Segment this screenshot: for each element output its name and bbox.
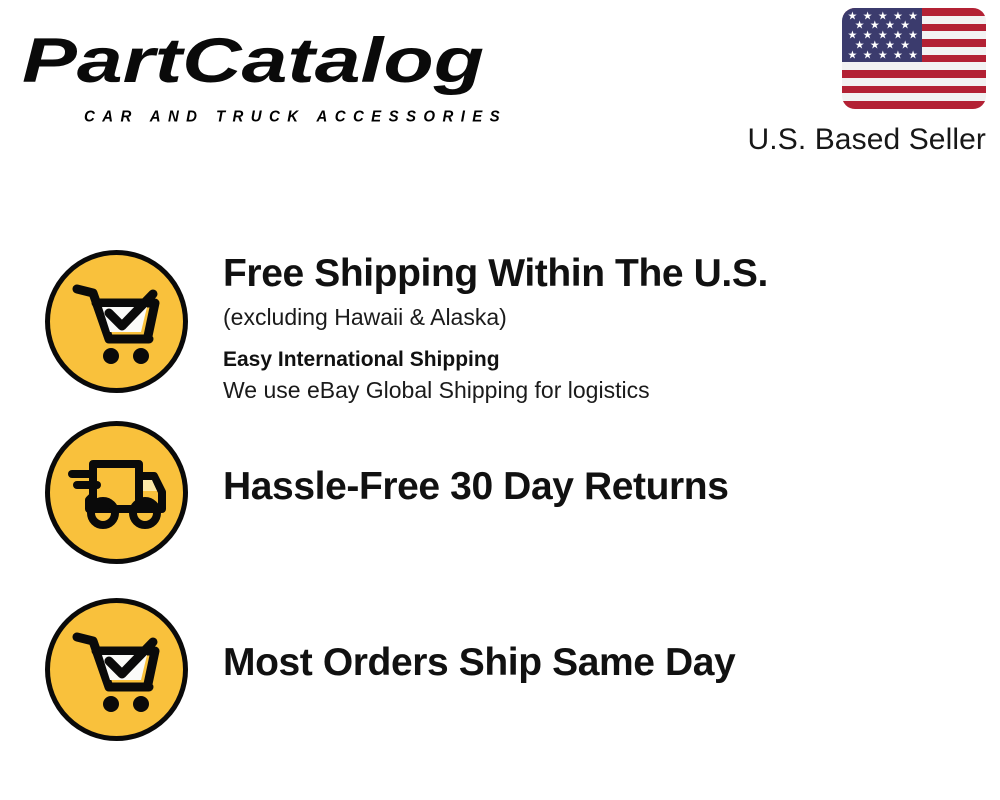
feature-subline: (excluding Hawaii & Alaska) xyxy=(223,302,983,332)
delivery-truck-icon xyxy=(45,421,188,564)
feature-text-block: Hassle-Free 30 Day Returns xyxy=(223,465,983,509)
shopping-cart-check-icon xyxy=(45,250,188,393)
feature-headline: Hassle-Free 30 Day Returns xyxy=(223,465,983,509)
shopping-cart-check-icon xyxy=(45,598,188,741)
us-flag-icon: ★ ★ ★ ★ ★ ★ ★ ★ ★ ★ ★ ★ ★ ★ ★ ★ ★ ★ ★ ★ xyxy=(842,8,986,109)
flag-canton: ★ ★ ★ ★ ★ ★ ★ ★ ★ ★ ★ ★ ★ ★ ★ ★ ★ ★ ★ ★ xyxy=(842,8,922,62)
feature-headline: Most Orders Ship Same Day xyxy=(223,641,983,685)
brand-tagline: CAR AND TRUCK ACCESSORIES xyxy=(84,108,507,126)
feature-text-block: Most Orders Ship Same Day xyxy=(223,641,983,685)
partcatalog-wordmark-icon: PartCatalog xyxy=(22,22,492,98)
us-based-seller-badge: ★ ★ ★ ★ ★ ★ ★ ★ ★ ★ ★ ★ ★ ★ ★ ★ ★ ★ ★ ★ xyxy=(711,8,986,157)
feature-subheading-detail: We use eBay Global Shipping for logistic… xyxy=(223,375,983,405)
feature-subheading: Easy International Shipping xyxy=(223,346,983,374)
shipping-info-banner: PartCatalog CAR AND TRUCK ACCESSORIES ★ … xyxy=(0,0,1000,800)
feature-text-block: Free Shipping Within The U.S. (excluding… xyxy=(223,252,983,405)
svg-text:PartCatalog: PartCatalog xyxy=(22,26,484,96)
feature-headline: Free Shipping Within The U.S. xyxy=(223,252,983,296)
us-based-seller-label: U.S. Based Seller xyxy=(711,123,986,157)
brand-logo[interactable]: PartCatalog CAR AND TRUCK ACCESSORIES xyxy=(22,22,492,122)
